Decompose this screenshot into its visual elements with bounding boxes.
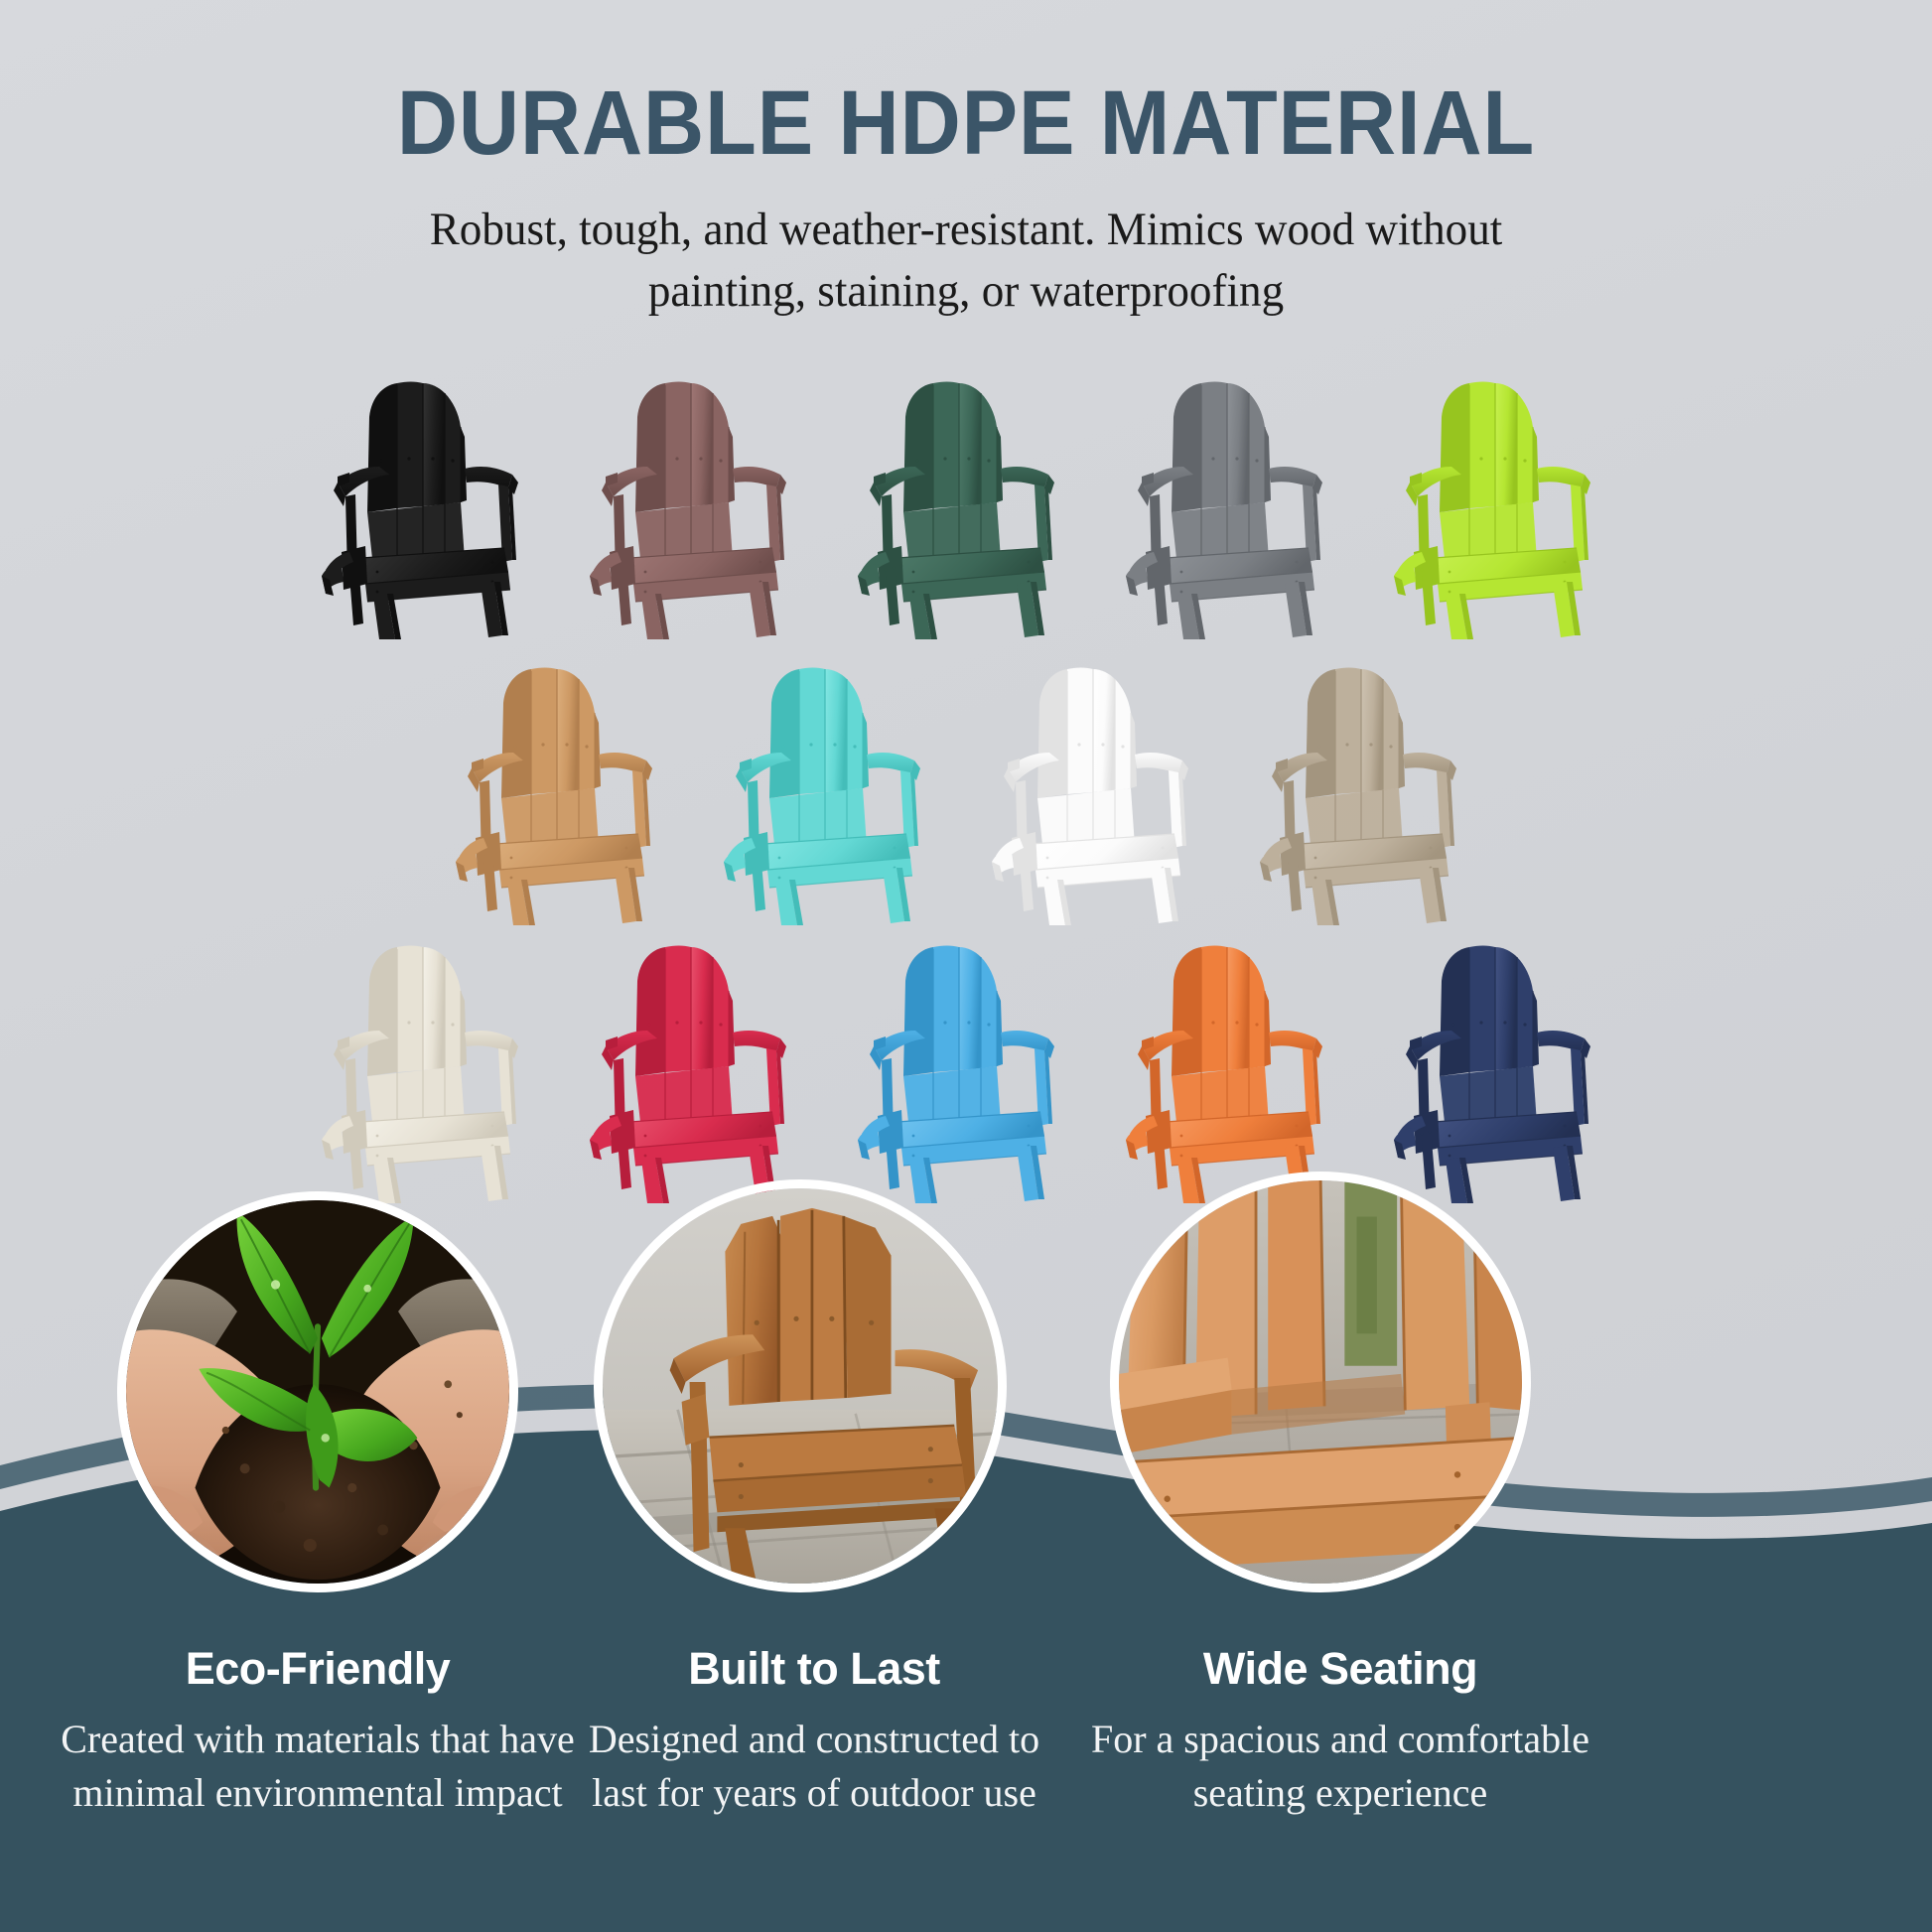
adirondack-chair-dusty-rose-brown xyxy=(574,369,822,639)
adirondack-chair-dark-green xyxy=(842,369,1090,639)
chair-cell-black[interactable] xyxy=(296,369,564,639)
subtitle-line-1: Robust, tough, and weather-resistant. Mi… xyxy=(418,199,1514,260)
feature-title: Built to Last xyxy=(536,1643,1092,1695)
chair-cell-sky-blue[interactable] xyxy=(832,933,1100,1203)
adirondack-chair-white xyxy=(976,655,1224,925)
chair-cell-orange[interactable] xyxy=(1100,933,1368,1203)
adirondack-chair-crimson-red xyxy=(574,933,822,1203)
chair-row-1 xyxy=(0,369,1932,639)
adirondack-chair-navy-blue xyxy=(1378,933,1626,1203)
brown-chair-patio-photo xyxy=(603,1188,998,1584)
chair-cell-khaki-beige[interactable] xyxy=(1234,655,1502,925)
chair-row-2 xyxy=(0,655,1932,925)
chair-cell-white[interactable] xyxy=(966,655,1234,925)
chair-row-3 xyxy=(0,933,1932,1203)
feature-body-line-2: seating experience xyxy=(1052,1766,1628,1820)
feature-title: Eco-Friendly xyxy=(40,1643,596,1695)
feature-body: Created with materials that have minimal… xyxy=(40,1713,596,1819)
header: DURABLE HDPE MATERIAL Robust, tough, and… xyxy=(0,77,1932,322)
chair-cell-lime-green[interactable] xyxy=(1368,369,1636,639)
subtitle-line-2: painting, staining, or waterproofing xyxy=(418,260,1514,322)
adirondack-chair-sky-blue xyxy=(842,933,1090,1203)
chair-cell-crimson-red[interactable] xyxy=(564,933,832,1203)
feature-body-line-1: Created with materials that have xyxy=(40,1713,596,1766)
feature-body-line-2: minimal environmental impact xyxy=(40,1766,596,1820)
feature-photo-wide-seating xyxy=(1110,1172,1531,1592)
chair-cell-dark-green[interactable] xyxy=(832,369,1100,639)
feature-body-line-1: For a spacious and comfortable xyxy=(1052,1713,1628,1766)
adirondack-chair-gray xyxy=(1110,369,1358,639)
feature-body: Designed and constructed to last for yea… xyxy=(536,1713,1092,1819)
adirondack-chair-turquoise xyxy=(708,655,956,925)
feature-photo-built-to-last xyxy=(594,1179,1007,1592)
chair-cell-navy-blue[interactable] xyxy=(1368,933,1636,1203)
poster-canvas: DURABLE HDPE MATERIAL Robust, tough, and… xyxy=(0,0,1932,1932)
feature-block-eco-friendly: Eco-Friendly Created with materials that… xyxy=(40,1643,596,1819)
feature-title: Wide Seating xyxy=(1052,1643,1628,1695)
feature-body: For a spacious and comfortable seating e… xyxy=(1052,1713,1628,1819)
page-title: DURABLE HDPE MATERIAL xyxy=(77,77,1855,169)
soil-seedling-photo xyxy=(126,1200,509,1584)
wide-seat-closeup-photo xyxy=(1119,1180,1522,1584)
adirondack-chair-ivory-cream xyxy=(306,933,554,1203)
page-subtitle: Robust, tough, and weather-resistant. Mi… xyxy=(418,199,1514,322)
adirondack-chair-lime-green xyxy=(1378,369,1626,639)
adirondack-chair-khaki-beige xyxy=(1244,655,1492,925)
feature-block-wide-seating: Wide Seating For a spacious and comforta… xyxy=(1052,1643,1628,1819)
feature-photo-eco-friendly xyxy=(117,1191,518,1592)
chair-cell-dusty-rose-brown[interactable] xyxy=(564,369,832,639)
adirondack-chair-teak-tan xyxy=(440,655,688,925)
chair-cell-teak-tan[interactable] xyxy=(430,655,698,925)
feature-body-line-1: Designed and constructed to xyxy=(536,1713,1092,1766)
chair-cell-gray[interactable] xyxy=(1100,369,1368,639)
feature-block-built-to-last: Built to Last Designed and constructed t… xyxy=(536,1643,1092,1819)
chair-cell-turquoise[interactable] xyxy=(698,655,966,925)
chair-cell-ivory-cream[interactable] xyxy=(296,933,564,1203)
feature-body-line-2: last for years of outdoor use xyxy=(536,1766,1092,1820)
adirondack-chair-orange xyxy=(1110,933,1358,1203)
adirondack-chair-black xyxy=(306,369,554,639)
